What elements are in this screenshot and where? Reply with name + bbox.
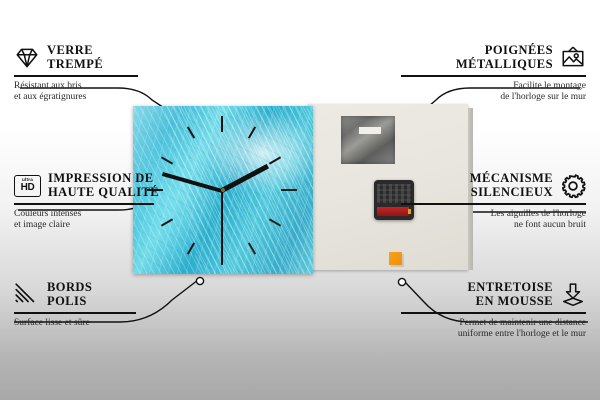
- feature-desc-line1: Permet de maintenir une distance: [401, 318, 586, 330]
- feature-desc-line1: Les aiguilles de l'horloge: [401, 209, 586, 221]
- feature-desc-line1: Résistant aux bris: [14, 81, 199, 93]
- feature-bords-polis: BORDS POLIS Surface lisse et sûre: [14, 281, 199, 329]
- feature-entretoise-en-mousse: ENTRETOISE EN MOUSSE Permet de maintenir…: [401, 281, 586, 341]
- feature-mecanisme-silencieux: MÉCANISME SILENCIEUX Les aiguilles de l'…: [401, 172, 586, 232]
- feature-divider: [401, 203, 586, 205]
- feature-divider: [14, 312, 136, 314]
- feature-impression-haute-qualite: ultra HD IMPRESSION DE HAUTE QUALITÉ Cou…: [14, 172, 199, 232]
- feature-title: ENTRETOISE EN MOUSSE: [467, 281, 553, 308]
- feature-title: POIGNÉES MÉTALLIQUES: [456, 44, 553, 71]
- feature-header: ultra HD IMPRESSION DE HAUTE QUALITÉ: [14, 172, 199, 199]
- feature-verre-trempe: VERRE TREMPÉ Résistant aux bris et aux é…: [14, 44, 199, 104]
- polished-edges-icon: [14, 282, 40, 308]
- feature-desc-line2: uniforme entre l'horloge et le mur: [401, 329, 586, 341]
- feature-desc-line1: Facilite le montage: [401, 81, 586, 93]
- feature-title: IMPRESSION DE HAUTE QUALITÉ: [48, 172, 159, 199]
- ultra-hd-main-text: HD: [21, 183, 35, 193]
- feature-poignees-metalliques: POIGNÉES MÉTALLIQUES Facilite le montage…: [401, 44, 586, 104]
- hanger-slot: [359, 127, 381, 134]
- feature-title: BORDS POLIS: [47, 281, 92, 308]
- feature-title: MÉCANISME SILENCIEUX: [470, 172, 553, 199]
- foam-spacer: [389, 252, 402, 265]
- feature-divider: [14, 203, 154, 205]
- ultra-hd-badge-icon: ultra HD: [14, 175, 41, 197]
- feature-header: POIGNÉES MÉTALLIQUES: [401, 44, 586, 71]
- feature-header: VERRE TREMPÉ: [14, 44, 199, 71]
- diamond-icon: [14, 45, 40, 71]
- feature-desc-line2: de l'horloge sur le mur: [401, 92, 586, 104]
- feature-header: BORDS POLIS: [14, 281, 199, 308]
- feature-desc-line2: ne font aucun bruit: [401, 220, 586, 232]
- feature-title: VERRE TREMPÉ: [47, 44, 103, 71]
- picture-frame-hanger-icon: [560, 45, 586, 71]
- feature-divider: [401, 75, 586, 77]
- feature-header: MÉCANISME SILENCIEUX: [401, 172, 586, 199]
- feature-desc-line2: et aux égratignures: [14, 92, 199, 104]
- feature-divider: [401, 312, 586, 314]
- metal-hanger-plate: [341, 116, 395, 164]
- infographic-canvas: VERRE TREMPÉ Résistant aux bris et aux é…: [0, 0, 600, 400]
- feature-header: ENTRETOISE EN MOUSSE: [401, 281, 586, 308]
- foam-spacer-arrow-icon: [560, 282, 586, 308]
- feature-desc-line1: Couleurs intenses: [14, 209, 199, 221]
- feature-divider: [14, 75, 138, 77]
- feature-desc-line2: et image claire: [14, 220, 199, 232]
- feature-desc-line1: Surface lisse et sûre: [14, 318, 199, 330]
- gear-icon: [560, 173, 586, 199]
